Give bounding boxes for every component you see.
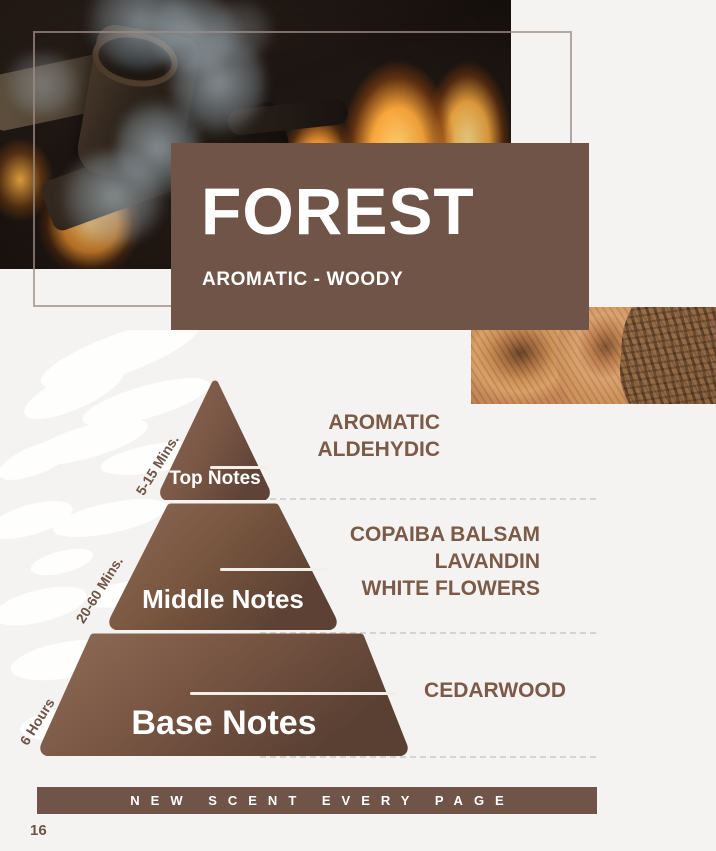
tier-connector-line [220,568,328,571]
page-number: 16 [30,822,47,839]
note-item: LAVANDIN [250,549,540,576]
divider-base [260,756,596,758]
pyramid-tier-base[interactable]: Base Notes [38,632,410,756]
fragrance-pyramid: Top Notes 5-15 Mins. AROMATIC ALDEHYDIC … [0,370,716,770]
divider-top [260,498,596,500]
footer-banner-text: NEW SCENT EVERY PAGE [37,787,597,814]
tier-connector-line [210,466,268,469]
title-block: FOREST AROMATIC - WOODY [171,143,589,330]
note-item: COPAIBA BALSAM [250,522,540,549]
tier-label-middle: Middle Notes [107,584,339,615]
page-title: FOREST [201,178,475,244]
page-subtitle: AROMATIC - WOODY [202,269,403,291]
tier-label-top: Top Notes [160,468,270,490]
footer-banner: NEW SCENT EVERY PAGE [37,787,597,814]
note-item: AROMATIC [250,410,440,437]
tier-label-base: Base Notes [38,704,410,743]
page-canvas: FOREST AROMATIC - WOODY Top Notes 5 [0,0,716,851]
tier-connector-line [190,692,396,695]
tier-notes-top: AROMATIC ALDEHYDIC [250,410,440,464]
note-item: ALDEHYDIC [250,437,440,464]
